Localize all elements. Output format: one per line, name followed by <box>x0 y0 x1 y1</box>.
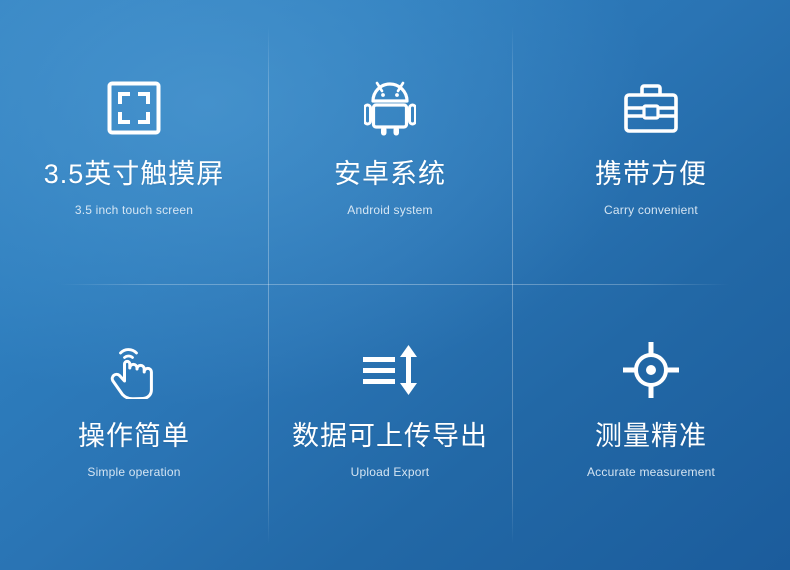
feature-subtitle: Upload Export <box>351 465 430 479</box>
feature-cell-simple-operation[interactable]: 操作简单 Simple operation <box>0 284 268 570</box>
feature-title: 测量精准 <box>595 422 707 452</box>
briefcase-icon <box>621 78 681 138</box>
feature-cell-accurate-measurement[interactable]: 测量精准 Accurate measurement <box>512 284 790 570</box>
feature-cell-android-system[interactable]: 安卓系统 Android system <box>268 0 512 284</box>
android-robot-icon <box>360 78 420 138</box>
feature-subtitle: Carry convenient <box>604 203 698 217</box>
feature-title: 携带方便 <box>595 160 707 190</box>
feature-title: 3.5英寸触摸屏 <box>44 160 225 190</box>
feature-cell-carry-convenient[interactable]: 携带方便 Carry convenient <box>512 0 790 284</box>
feature-subtitle: 3.5 inch touch screen <box>75 203 193 217</box>
feature-cell-touch-screen[interactable]: 3.5英寸触摸屏 3.5 inch touch screen <box>0 0 268 284</box>
feature-grid: 3.5英寸触摸屏 3.5 inch touch screen <box>0 0 790 570</box>
upload-export-arrows-icon <box>360 340 420 400</box>
tap-hand-icon <box>104 340 164 400</box>
touch-screen-frame-icon <box>104 78 164 138</box>
feature-title: 安卓系统 <box>334 160 446 190</box>
feature-title: 数据可上传导出 <box>292 422 488 452</box>
feature-cell-upload-export[interactable]: 数据可上传导出 Upload Export <box>268 284 512 570</box>
feature-subtitle: Simple operation <box>87 465 180 479</box>
product-feature-grid: 3.5英寸触摸屏 3.5 inch touch screen <box>0 0 790 570</box>
feature-subtitle: Android system <box>347 203 433 217</box>
crosshair-target-icon <box>621 340 681 400</box>
feature-title: 操作简单 <box>78 422 190 452</box>
feature-subtitle: Accurate measurement <box>587 465 715 479</box>
